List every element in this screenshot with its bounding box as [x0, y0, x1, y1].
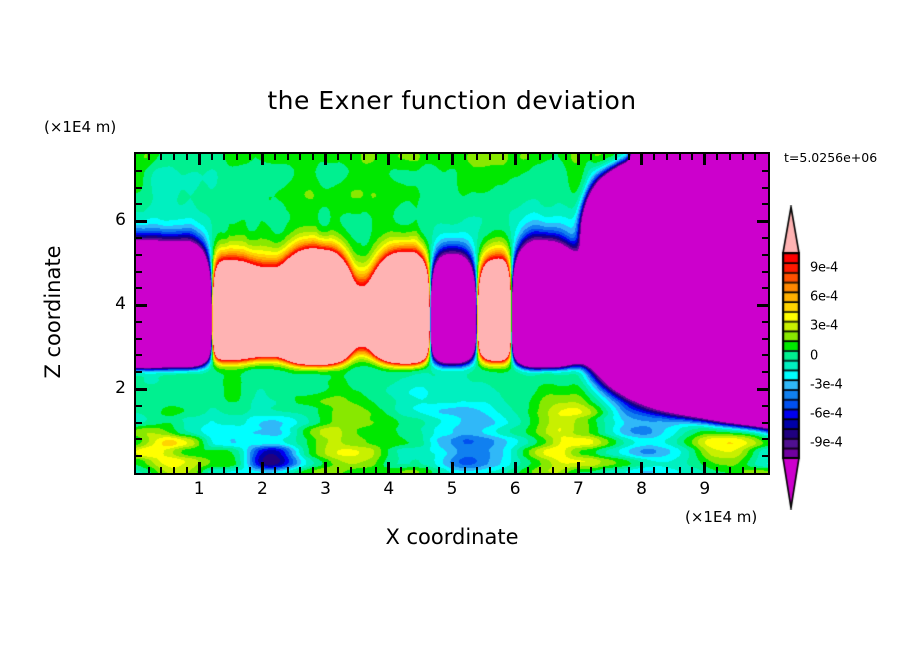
axis-tick	[762, 237, 768, 239]
colorbar-tick-label: 0	[810, 348, 818, 363]
axis-tick	[691, 154, 693, 160]
axis-tick	[762, 170, 768, 172]
axis-tick	[312, 467, 314, 473]
axis-tick	[703, 154, 706, 165]
axis-tick	[653, 467, 655, 473]
axis-tick	[299, 154, 301, 160]
axis-tick	[287, 467, 289, 473]
axis-tick	[590, 467, 592, 473]
x-tick-label: 6	[500, 479, 530, 499]
colorbar-gradient	[778, 205, 804, 510]
axis-tick	[762, 438, 768, 440]
axis-tick	[653, 154, 655, 160]
contour-plot-figure: the Exner function deviation (×1E4 m) t=…	[0, 0, 904, 654]
axis-tick	[489, 467, 491, 473]
axis-tick	[615, 154, 617, 160]
axis-tick	[173, 154, 175, 160]
axis-tick	[514, 462, 517, 473]
axis-tick	[762, 187, 768, 189]
axis-tick	[640, 154, 643, 165]
time-annotation: t=5.0256e+06	[784, 150, 877, 165]
axis-tick	[757, 304, 768, 307]
axis-tick	[476, 467, 478, 473]
axis-tick	[186, 467, 188, 473]
axis-tick	[603, 467, 605, 473]
y-tick-label: 4	[96, 294, 126, 314]
axis-tick	[514, 154, 517, 165]
axis-tick	[136, 220, 147, 223]
axis-tick	[426, 467, 428, 473]
axis-tick	[489, 154, 491, 160]
axis-tick	[762, 321, 768, 323]
axis-tick	[552, 467, 554, 473]
axis-tick	[211, 154, 213, 160]
axis-tick	[261, 154, 264, 165]
axis-tick	[136, 338, 142, 340]
axis-tick	[762, 271, 768, 273]
axis-tick	[400, 154, 402, 160]
axis-tick	[236, 154, 238, 160]
axis-tick	[426, 154, 428, 160]
axis-tick	[136, 237, 142, 239]
axis-tick	[136, 170, 142, 172]
axis-tick	[136, 254, 142, 256]
axis-tick	[464, 467, 466, 473]
axis-tick	[249, 467, 251, 473]
axis-tick	[324, 462, 327, 473]
axis-tick	[464, 154, 466, 160]
axis-tick	[762, 354, 768, 356]
axis-tick	[136, 304, 147, 307]
axis-tick	[186, 154, 188, 160]
axis-tick	[413, 467, 415, 473]
axis-tick	[375, 154, 377, 160]
y-axis-unit-label: (×1E4 m)	[44, 118, 116, 136]
axis-tick	[527, 154, 529, 160]
y-tick-label: 6	[96, 210, 126, 230]
axis-tick	[350, 467, 352, 473]
x-axis-unit-label: (×1E4 m)	[685, 508, 757, 526]
axis-tick	[136, 287, 142, 289]
axis-tick	[729, 154, 731, 160]
axis-tick	[148, 154, 150, 160]
axis-tick	[679, 467, 681, 473]
axis-tick	[762, 203, 768, 205]
y-axis-title: Z coordinate	[41, 232, 65, 392]
x-tick-label: 5	[437, 479, 467, 499]
x-tick-label: 1	[184, 479, 214, 499]
axis-tick	[148, 467, 150, 473]
axis-tick	[451, 462, 454, 473]
axis-tick	[539, 154, 541, 160]
axis-tick	[375, 467, 377, 473]
plot-area	[134, 152, 770, 475]
axis-tick	[539, 467, 541, 473]
axis-tick	[666, 154, 668, 160]
axis-tick	[577, 154, 580, 165]
colorbar-tick-label: 6e-4	[810, 289, 838, 304]
axis-tick	[565, 154, 567, 160]
axis-tick	[762, 287, 768, 289]
axis-tick	[413, 154, 415, 160]
axis-tick	[762, 405, 768, 407]
axis-tick	[762, 254, 768, 256]
axis-tick	[400, 467, 402, 473]
axis-tick	[527, 467, 529, 473]
axis-tick	[438, 154, 440, 160]
axis-tick	[198, 154, 201, 165]
axis-tick	[691, 467, 693, 473]
axis-tick	[476, 154, 478, 160]
axis-tick	[211, 467, 213, 473]
axis-tick	[236, 467, 238, 473]
x-tick-label: 2	[247, 479, 277, 499]
axis-tick	[754, 154, 756, 160]
colorbar: 9e-46e-43e-40-3e-4-6e-4-9e-4	[778, 205, 804, 510]
x-tick-label: 7	[563, 479, 593, 499]
colorbar-tick-label: 9e-4	[810, 260, 838, 275]
axis-tick	[502, 467, 504, 473]
axis-tick	[299, 467, 301, 473]
axis-tick	[603, 154, 605, 160]
axis-tick	[136, 438, 142, 440]
axis-tick	[762, 371, 768, 373]
axis-tick	[136, 321, 142, 323]
axis-tick	[679, 154, 681, 160]
colorbar-tick-label: -6e-4	[810, 407, 842, 422]
x-axis-title: X coordinate	[134, 525, 770, 549]
axis-tick	[640, 462, 643, 473]
colorbar-tick-label: -9e-4	[810, 436, 842, 451]
axis-tick	[757, 388, 768, 391]
axis-tick	[729, 467, 731, 473]
contour-field	[136, 154, 768, 473]
axis-tick	[590, 154, 592, 160]
axis-tick	[615, 467, 617, 473]
axis-tick	[136, 405, 142, 407]
colorbar-tick-label: -3e-4	[810, 377, 842, 392]
axis-tick	[363, 467, 365, 473]
x-tick-label: 3	[311, 479, 341, 499]
axis-tick	[666, 467, 668, 473]
axis-tick	[136, 203, 142, 205]
axis-tick	[742, 467, 744, 473]
axis-tick	[160, 154, 162, 160]
axis-tick	[312, 154, 314, 160]
axis-tick	[337, 467, 339, 473]
axis-tick	[502, 154, 504, 160]
axis-tick	[757, 220, 768, 223]
axis-tick	[324, 154, 327, 165]
axis-tick	[136, 371, 142, 373]
axis-tick	[716, 467, 718, 473]
axis-tick	[136, 187, 142, 189]
axis-tick	[451, 154, 454, 165]
axis-tick	[565, 467, 567, 473]
axis-tick	[742, 154, 744, 160]
axis-tick	[438, 467, 440, 473]
axis-tick	[387, 462, 390, 473]
axis-tick	[136, 422, 142, 424]
axis-tick	[754, 467, 756, 473]
axis-tick	[274, 154, 276, 160]
axis-tick	[703, 462, 706, 473]
axis-tick	[136, 388, 147, 391]
axis-tick	[136, 271, 142, 273]
axis-tick	[762, 338, 768, 340]
axis-tick	[249, 154, 251, 160]
axis-tick	[350, 154, 352, 160]
colorbar-tick-label: 3e-4	[810, 319, 838, 334]
axis-tick	[160, 467, 162, 473]
axis-tick	[136, 455, 142, 457]
axis-tick	[628, 154, 630, 160]
axis-tick	[552, 154, 554, 160]
axis-tick	[363, 154, 365, 160]
axis-tick	[387, 154, 390, 165]
axis-tick	[198, 462, 201, 473]
axis-tick	[261, 462, 264, 473]
axis-tick	[223, 467, 225, 473]
axis-tick	[577, 462, 580, 473]
axis-tick	[136, 354, 142, 356]
axis-tick	[628, 467, 630, 473]
axis-tick	[762, 422, 768, 424]
x-tick-label: 4	[374, 479, 404, 499]
axis-tick	[287, 154, 289, 160]
x-tick-label: 9	[690, 479, 720, 499]
page-title: the Exner function deviation	[0, 86, 904, 115]
y-tick-label: 2	[96, 378, 126, 398]
axis-tick	[337, 154, 339, 160]
axis-tick	[274, 467, 276, 473]
axis-tick	[716, 154, 718, 160]
x-tick-label: 8	[627, 479, 657, 499]
axis-tick	[173, 467, 175, 473]
axis-tick	[223, 154, 225, 160]
axis-tick	[762, 455, 768, 457]
